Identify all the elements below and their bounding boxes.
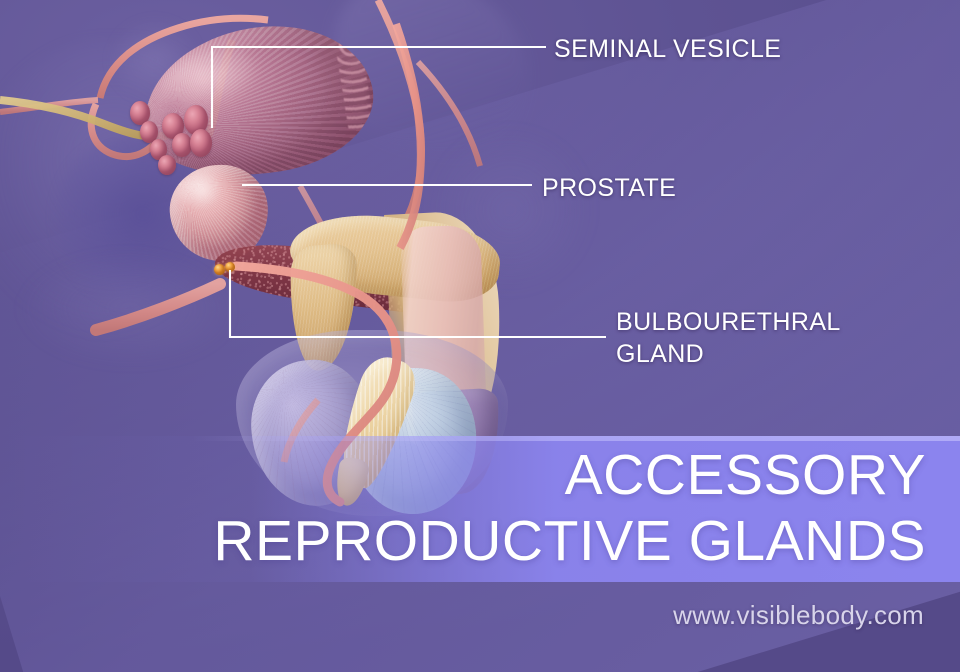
- illustration-canvas: SEMINAL VESICLE PROSTATE BULBOURETHRAL G…: [0, 0, 960, 672]
- label-bulbourethral-gland: BULBOURETHRAL GLAND: [616, 306, 841, 370]
- leader-line-bulbourethral-gland: [230, 270, 606, 337]
- figure-title-line-1: ACCESSORY: [26, 448, 926, 503]
- label-seminal-vesicle: SEMINAL VESICLE: [554, 33, 781, 65]
- leader-line-seminal-vesicle: [212, 47, 546, 128]
- credit-url: www.visiblebody.com: [673, 600, 924, 631]
- label-prostate: PROSTATE: [542, 172, 676, 204]
- banner-top-highlight: [0, 436, 960, 441]
- figure-title-line-2: REPRODUCTIVE GLANDS: [26, 514, 926, 569]
